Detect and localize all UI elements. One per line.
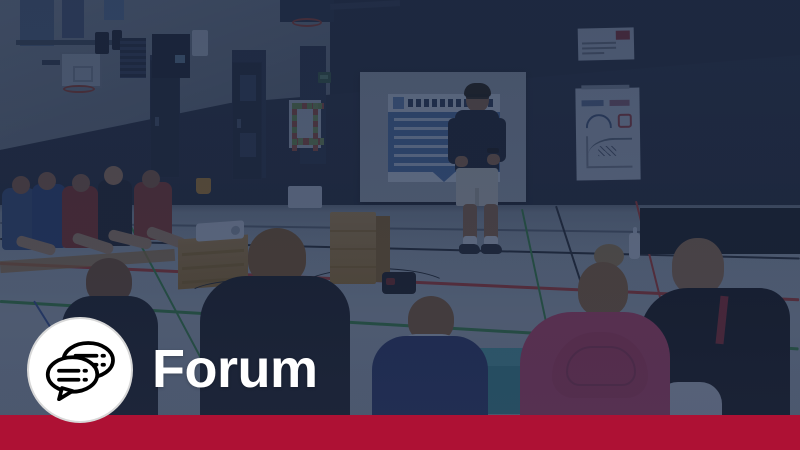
speech-bubbles-icon bbox=[44, 339, 116, 401]
forum-logo-badge[interactable] bbox=[27, 317, 133, 423]
accent-footer-bar bbox=[0, 415, 800, 450]
forum-banner: Forum bbox=[0, 0, 800, 450]
banner-title: Forum bbox=[152, 342, 318, 396]
